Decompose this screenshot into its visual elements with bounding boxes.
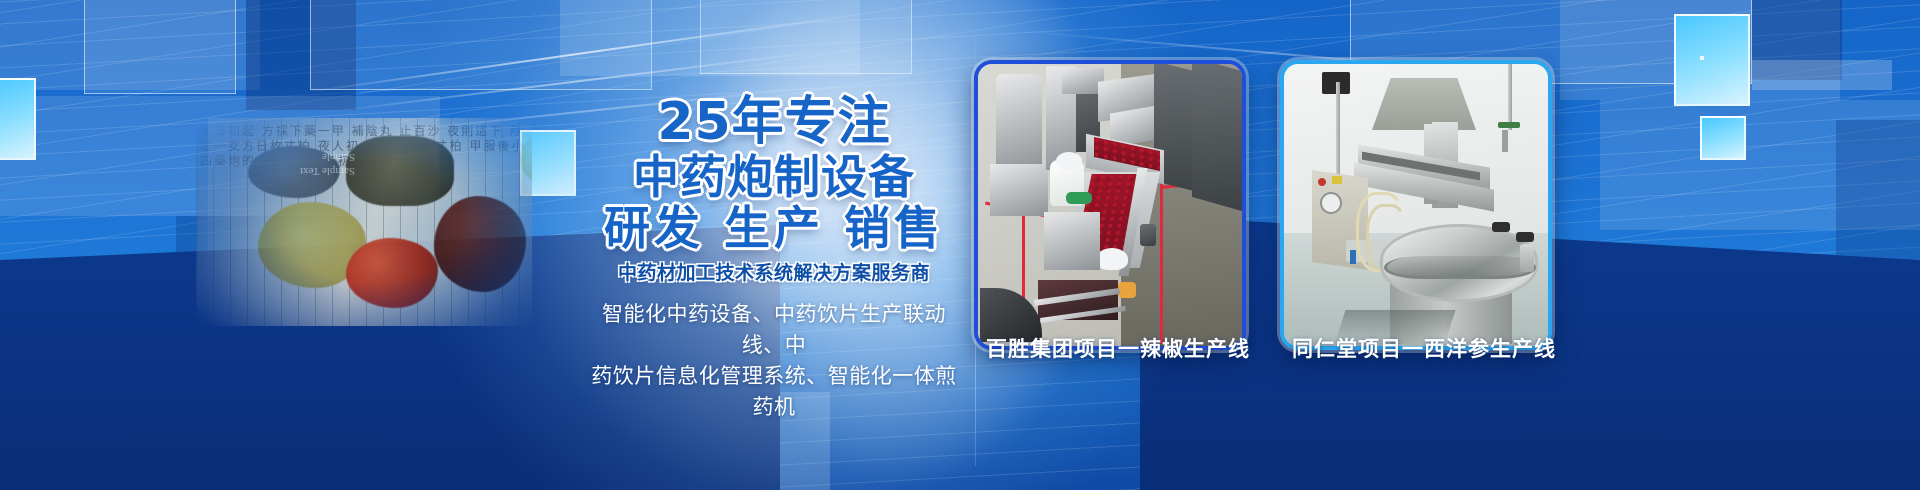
- headline-block: 25年专注 中药炮制设备 研发 生产 销售 中药材加工技术系统解决方案服务商 智…: [588, 96, 960, 423]
- photo-caption-ginseng: 同仁堂项目一西洋参生产线: [1292, 333, 1556, 363]
- photo-card-ginseng-line[interactable]: [1280, 60, 1552, 350]
- indicator-light: [1332, 176, 1342, 184]
- worker-glove: [1066, 192, 1092, 204]
- bg-pane: [1752, 60, 1892, 90]
- tank-port: [1520, 244, 1534, 272]
- tank-valve: [1516, 232, 1534, 242]
- photo-caption-chili: 百胜集团项目一辣椒生产线: [986, 333, 1250, 363]
- headline-line-3: 研发 生产 销售: [588, 205, 960, 251]
- headline-tagline: 中药材加工技术系统解决方案服务商: [588, 258, 960, 285]
- photo-card-chili-line[interactable]: [974, 60, 1246, 350]
- tank-valve: [1492, 222, 1510, 232]
- tank-clamp-ring: [1384, 256, 1536, 279]
- bg-chip: [1700, 56, 1704, 60]
- photo-chili-line: [978, 64, 1242, 346]
- valve-handle: [1498, 122, 1520, 128]
- bg-chip: [1700, 116, 1746, 160]
- headline-body-line-2: 药饮片信息化管理系统、智能化一体煎药机: [588, 361, 960, 423]
- worker-cap: [1056, 152, 1082, 170]
- machine-base: [990, 164, 1048, 216]
- indicator-light: [1318, 178, 1326, 186]
- headline-line-2: 中药炮制设备: [588, 154, 960, 200]
- machine-box: [1044, 212, 1100, 270]
- herb-collage-image: 驅毒初起 方採下藥一甲 補陰丸 止百沙 夜則這下 月是一女方日枚丈柏 夜人初 十…: [196, 118, 532, 326]
- bg-pane-outlined: [84, 0, 236, 94]
- herb-blue-overlay: [196, 118, 532, 326]
- trash-bin: [1140, 224, 1156, 246]
- headline-line-1: 25年专注: [588, 96, 960, 148]
- headline-body-line-1: 智能化中药设备、中药饮片生产联动线、中: [588, 299, 960, 361]
- pressure-gauge: [1320, 192, 1342, 214]
- machine-elevator: [1192, 60, 1242, 211]
- promo-banner: 驅毒初起 方採下藥一甲 補陰丸 止百沙 夜則這下 月是一女方日枚丈柏 夜人初 十…: [0, 0, 1920, 490]
- vertical-pipe: [1508, 64, 1512, 130]
- valve-handle: [1350, 250, 1356, 264]
- watermark-line-1: Sample Text: [300, 164, 355, 178]
- worker-item: [1118, 282, 1136, 298]
- bg-chip: [0, 78, 36, 160]
- worker-cap: [1096, 248, 1128, 270]
- machine-column: [996, 74, 1042, 170]
- watermark-line-2: Sample: [300, 150, 355, 164]
- floor-marking: [1160, 184, 1163, 344]
- watermark-text: Sample Text Sample: [300, 150, 355, 178]
- valve-stem: [1502, 130, 1508, 152]
- photo-ginseng-line: [1284, 64, 1548, 346]
